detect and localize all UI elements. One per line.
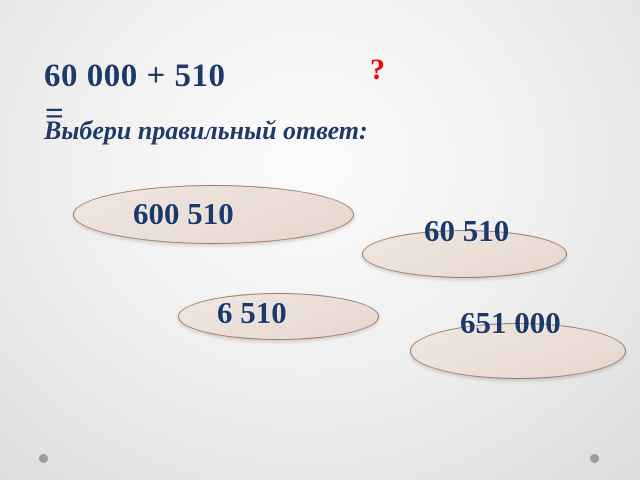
decorative-dot-icon [39,454,48,463]
answer-option-label[interactable]: 60 510 [424,215,544,247]
question-mark-icon: ? [370,55,385,85]
equation-text: 60 000 + 510 [44,58,226,95]
prompt-text: Выбери правильный ответ: [44,116,368,146]
answer-option-label[interactable]: 600 510 [133,198,313,230]
slide-canvas: 60 000 + 510 ? = Выбери правильный ответ… [0,0,640,480]
decorative-dot-icon [590,454,599,463]
answer-option-label[interactable]: 6 510 [217,297,367,329]
answer-option-label[interactable]: 651 000 [460,307,600,339]
